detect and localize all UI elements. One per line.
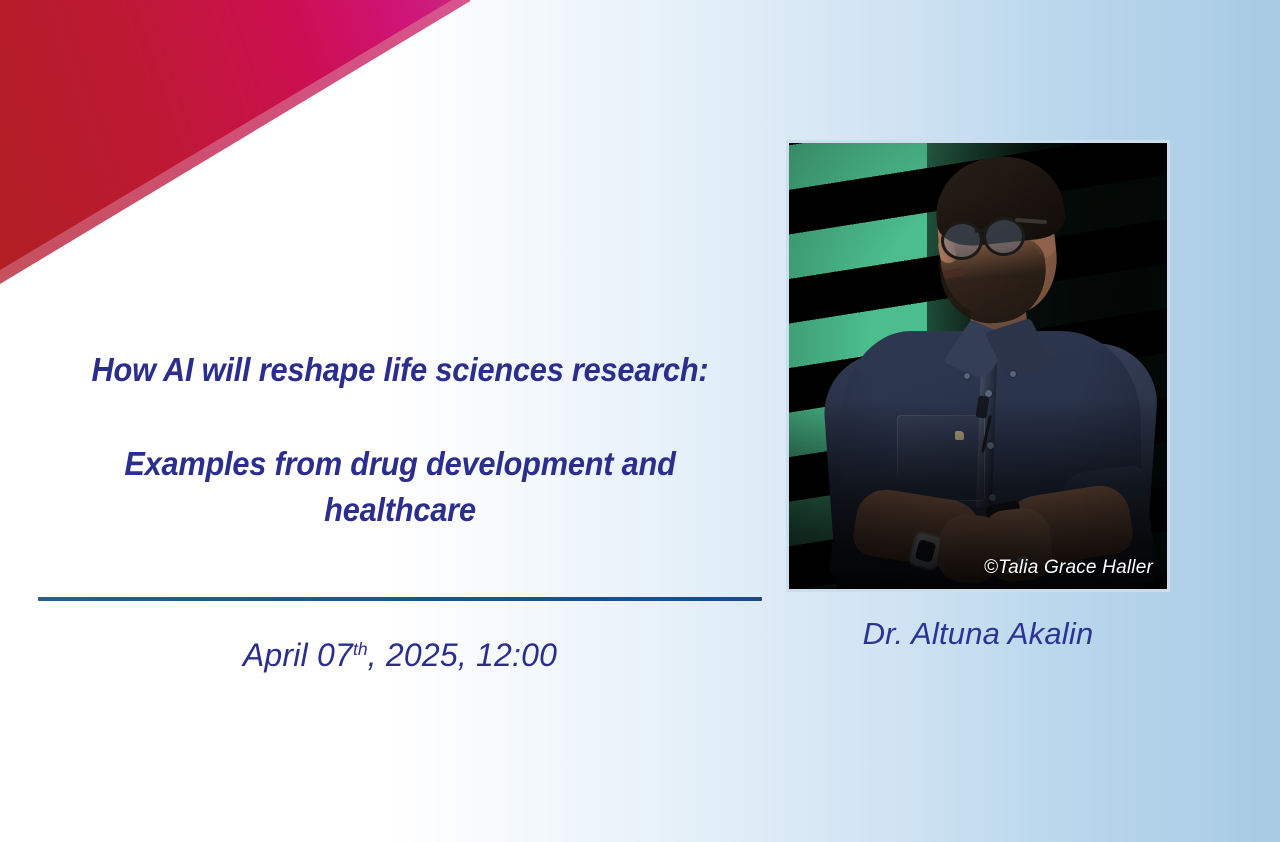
- photo-credit: ©Talia Grace Haller: [984, 557, 1153, 579]
- page-title-line-1: How AI will reshape life sciences resear…: [63, 347, 736, 394]
- speaker-photo: ©Talia Grace Haller: [786, 140, 1170, 592]
- page-title: How AI will reshape life sciences resear…: [63, 300, 736, 581]
- seminar-announcement-slide: How AI will reshape life sciences resear…: [0, 0, 1280, 842]
- corner-banner-highlight-triangle: [0, 0, 470, 300]
- event-datetime: April 07th, 2025, 12:00: [38, 637, 762, 674]
- speaker-name: Dr. Altuna Akalin: [786, 616, 1170, 652]
- collar-button-right: [1010, 371, 1016, 377]
- collar-button-left: [964, 373, 970, 379]
- corner-banner-main-triangle: [0, 0, 470, 300]
- event-date-suffix: , 2025, 12:00: [368, 637, 557, 673]
- page-title-line-2: Examples from drug development and healt…: [63, 441, 736, 535]
- title-divider-rule: [38, 597, 762, 601]
- event-date-ordinal: th: [353, 639, 368, 659]
- event-date-prefix: April 07: [243, 637, 353, 673]
- event-text-block: How AI will reshape life sciences resear…: [38, 300, 762, 674]
- corner-banner: [0, 0, 470, 300]
- speaker-photo-image: ©Talia Grace Haller: [789, 143, 1167, 589]
